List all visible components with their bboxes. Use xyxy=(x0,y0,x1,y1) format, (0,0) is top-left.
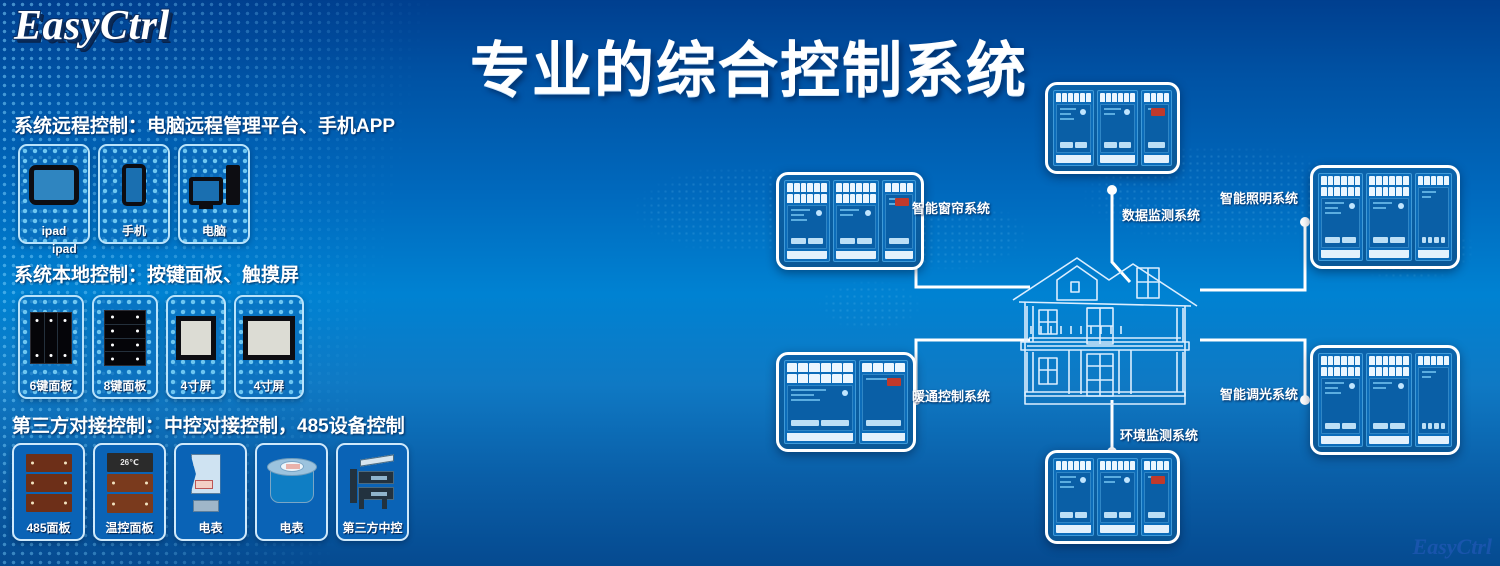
system-topology-diagram: 智能窗帘系统 数据监测系统 xyxy=(700,0,1500,566)
round-electric-meter-icon xyxy=(257,445,326,521)
section-heading-local-control: 系统本地控制：按键面板、触摸屏 xyxy=(14,260,299,287)
device-label: 4寸屏 xyxy=(181,379,212,393)
node-label-curtain: 智能窗帘系统 xyxy=(912,198,990,217)
device-label: 4寸屏 xyxy=(254,379,285,393)
device-label: 电表 xyxy=(279,521,303,535)
din-module xyxy=(1053,90,1094,166)
touch-screen-large-icon xyxy=(236,297,302,379)
device-label: 485面板 xyxy=(26,521,70,535)
din-module xyxy=(1097,90,1138,166)
node-label-lighting: 智能照明系统 xyxy=(1220,188,1298,207)
device-row-local: 6键面板 8键面板 4寸屏 4寸屏 xyxy=(18,295,304,399)
rs485-panel-icon xyxy=(14,445,83,521)
module-lighting[interactable] xyxy=(1310,165,1460,269)
device-label: 电脑 xyxy=(202,224,226,238)
third-party-controller-icon xyxy=(338,445,407,521)
module-curtain-controller[interactable] xyxy=(776,172,924,270)
din-module xyxy=(1415,353,1452,447)
house-illustration xyxy=(1005,246,1205,414)
din-module xyxy=(784,360,856,444)
din-module xyxy=(859,360,908,444)
device-card-computer[interactable]: 电脑 xyxy=(178,144,250,244)
device-label: 8键面板 xyxy=(104,379,147,393)
device-card-6key-panel[interactable]: 6键面板 xyxy=(18,295,84,399)
module-hvac[interactable] xyxy=(776,352,916,452)
device-label: 电表 xyxy=(198,521,222,535)
device-label: 第三方中控 xyxy=(342,521,402,535)
eight-key-panel-icon xyxy=(94,297,156,379)
device-card-8key-panel[interactable]: 8键面板 xyxy=(92,295,158,399)
node-label-environment: 环境监测系统 xyxy=(1120,425,1198,444)
watermark-logo: EasyCtrl xyxy=(1413,534,1492,560)
phone-icon xyxy=(100,146,168,224)
din-module xyxy=(1141,90,1172,166)
device-label: 手机 xyxy=(122,224,146,238)
din-module xyxy=(1366,353,1411,447)
din-module xyxy=(784,180,830,262)
din-module xyxy=(1415,173,1452,261)
module-environment[interactable] xyxy=(1045,450,1180,544)
device-card-screen-small[interactable]: 4寸屏 xyxy=(166,295,226,399)
node-label-data-monitor: 数据监测系统 xyxy=(1122,205,1200,224)
device-card-screen-large[interactable]: 4寸屏 xyxy=(234,295,304,399)
desktop-computer-icon xyxy=(180,146,248,224)
din-module xyxy=(1318,173,1363,261)
node-label-hvac: 暖通控制系统 xyxy=(912,386,990,405)
din-module xyxy=(1097,458,1138,536)
thermostat-panel-icon: 26℃ xyxy=(95,445,164,521)
electric-meter-icon xyxy=(176,445,245,521)
touch-screen-small-icon xyxy=(168,297,224,379)
din-module xyxy=(882,180,916,262)
din-module xyxy=(1366,173,1411,261)
device-card-phone[interactable]: 手机 xyxy=(98,144,170,244)
din-module xyxy=(1053,458,1094,536)
module-data-monitor[interactable] xyxy=(1045,82,1180,174)
device-card-485-panel[interactable]: 485面板 xyxy=(12,443,85,541)
tablet-icon xyxy=(20,146,88,224)
six-key-panel-icon xyxy=(20,297,82,379)
device-label: 6键面板 xyxy=(30,379,73,393)
poster-canvas: EasyCtrl 专业的综合控制系统 系统远程控制：电脑远程管理平台、手机APP… xyxy=(0,0,1500,566)
device-card-third-party-controller[interactable]: 第三方中控 xyxy=(336,443,409,541)
device-label: 温控面板 xyxy=(105,521,153,535)
node-label-dimming: 智能调光系统 xyxy=(1220,384,1298,403)
stray-ipad-caption: ipad xyxy=(52,242,77,256)
brand-logo: EasyCtrl xyxy=(14,2,170,50)
din-module xyxy=(1141,458,1172,536)
thermostat-display: 26℃ xyxy=(107,453,153,472)
device-label: ipad xyxy=(42,224,67,238)
module-dimming[interactable] xyxy=(1310,345,1460,455)
device-card-thermostat-panel[interactable]: 26℃ 温控面板 xyxy=(93,443,166,541)
device-row-third-party: 485面板 26℃ 温控面板 电表 电表 xyxy=(12,443,409,541)
device-card-ipad[interactable]: ipad xyxy=(18,144,90,244)
device-card-meter-round[interactable]: 电表 xyxy=(255,443,328,541)
din-module xyxy=(1318,353,1363,447)
device-row-remote: ipad 手机 电脑 xyxy=(18,144,250,244)
din-module xyxy=(833,180,879,262)
device-card-meter-inline[interactable]: 电表 xyxy=(174,443,247,541)
section-heading-remote-control: 系统远程控制：电脑远程管理平台、手机APP xyxy=(14,111,395,138)
section-heading-third-party-control: 第三方对接控制：中控对接控制，485设备控制 xyxy=(12,411,405,438)
